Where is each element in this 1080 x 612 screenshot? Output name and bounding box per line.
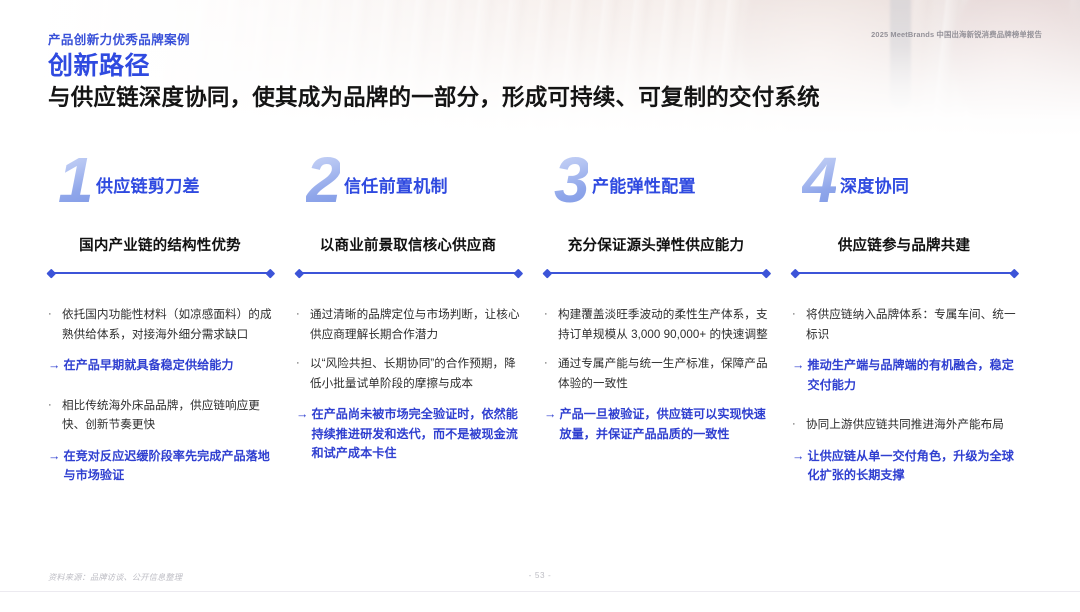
bullet-dot-icon: · <box>48 396 58 416</box>
column-1-title: 供应链剪刀差 <box>96 172 200 197</box>
divider-line <box>300 272 518 274</box>
list-item: · 构建覆盖淡旺季波动的柔性生产体系，支持订单规模从 3,000 90,000+… <box>544 305 774 344</box>
conclusion-text: 推动生产端与品牌端的有机融合，稳定交付能力 <box>808 356 1019 395</box>
column-2-number: 2 <box>306 148 340 212</box>
page-number: - 53 - <box>0 571 1080 580</box>
photo-band-base <box>0 0 1080 138</box>
column-4-number: 4 <box>802 148 836 212</box>
report-title-tag: 2025 MeetBrands 中国出海新锐消费品牌榜单报告 <box>871 29 1042 40</box>
bullet-dot-icon: · <box>48 305 58 325</box>
list-item: · 以“风险共担、长期协同”的合作预期，降低小批量试单阶段的摩擦与成本 <box>296 354 526 393</box>
columns-container: 1 供应链剪刀差 国内产业链的结构性优势 · 依托国内功能性材料（如凉感面料）的… <box>48 160 1040 486</box>
bullet-text: 相比传统海外床品品牌，供应链响应更快、创新节奏更快 <box>62 396 274 435</box>
column-2-divider <box>296 269 522 277</box>
column-1-group-1: · 依托国内功能性材料（如凉感面料）的成熟供给体系，对接海外细分需求缺口 → 在… <box>48 305 278 376</box>
column-4-title: 深度协同 <box>840 172 909 197</box>
list-item: · 依托国内功能性材料（如凉感面料）的成熟供给体系，对接海外细分需求缺口 <box>48 305 278 344</box>
list-item: · 通过清晰的品牌定位与市场判断，让核心供应商理解长期合作潜力 <box>296 305 526 344</box>
diamond-cap-right-icon <box>266 268 275 277</box>
header-photo-band <box>0 0 1080 138</box>
bullet-dot-icon: · <box>296 354 306 374</box>
bullet-text: 构建覆盖淡旺季波动的柔性生产体系，支持订单规模从 3,000 90,000+ 的… <box>558 305 770 344</box>
column-4: 4 深度协同 供应链参与品牌共建 · 将供应链纳入品牌体系：专属车间、统一标识 … <box>792 160 1040 486</box>
column-3: 3 产能弹性配置 充分保证源头弹性供应能力 · 构建覆盖淡旺季波动的柔性生产体系… <box>544 160 792 486</box>
column-1: 1 供应链剪刀差 国内产业链的结构性优势 · 依托国内功能性材料（如凉感面料）的… <box>48 160 296 486</box>
bullet-text: 通过清晰的品牌定位与市场判断，让核心供应商理解长期合作潜力 <box>310 305 522 344</box>
page-title: 创新路径 <box>48 52 150 82</box>
divider-line <box>52 272 270 274</box>
column-3-subtitle: 充分保证源头弹性供应能力 <box>544 234 774 255</box>
column-2-subtitle: 以商业前景取信核心供应商 <box>296 234 526 255</box>
diamond-cap-right-icon <box>1010 268 1019 277</box>
column-3-group-1: · 构建覆盖淡旺季波动的柔性生产体系，支持订单规模从 3,000 90,000+… <box>544 305 774 444</box>
column-3-head: 3 产能弹性配置 <box>544 160 774 222</box>
arrow-right-icon: → <box>296 405 309 425</box>
conclusion-line: → 在产品尚未被市场完全验证时，依然能持续推进研发和迭代，而不是被现金流和试产成… <box>296 405 526 464</box>
diamond-cap-right-icon <box>514 268 523 277</box>
column-1-body: · 依托国内功能性材料（如凉感面料）的成熟供给体系，对接海外细分需求缺口 → 在… <box>48 305 278 486</box>
column-4-group-2: · 协同上游供应链共同推进海外产能布局 → 让供应链从单一交付角色，升级为全球化… <box>792 415 1022 486</box>
column-3-title: 产能弹性配置 <box>592 172 696 197</box>
bullet-text: 依托国内功能性材料（如凉感面料）的成熟供给体系，对接海外细分需求缺口 <box>62 305 274 344</box>
page-subtitle: 与供应链深度协同，使其成为品牌的一部分，形成可持续、可复制的交付系统 <box>48 84 820 111</box>
bullet-text: 以“风险共担、长期协同”的合作预期，降低小批量试单阶段的摩擦与成本 <box>310 354 522 393</box>
column-2: 2 信任前置机制 以商业前景取信核心供应商 · 通过清晰的品牌定位与市场判断，让… <box>296 160 544 486</box>
bullet-text: 将供应链纳入品牌体系：专属车间、统一标识 <box>806 305 1018 344</box>
arrow-right-icon: → <box>792 356 805 376</box>
arrow-right-icon: → <box>48 447 61 467</box>
column-1-subtitle: 国内产业链的结构性优势 <box>48 234 278 255</box>
photo-band-shape-3 <box>890 0 911 108</box>
slide: 产品创新力优秀品牌案例 2025 MeetBrands 中国出海新锐消费品牌榜单… <box>0 0 1080 612</box>
conclusion-text: 让供应链从单一交付角色，升级为全球化扩张的长期支撑 <box>808 447 1019 486</box>
bullet-dot-icon: · <box>544 354 554 374</box>
conclusion-text: 在产品尚未被市场完全验证时，依然能持续推进研发和迭代，而不是被现金流和试产成本卡… <box>312 405 523 464</box>
slide-kicker: 产品创新力优秀品牌案例 <box>48 29 190 48</box>
bullet-dot-icon: · <box>792 415 802 435</box>
arrow-right-icon: → <box>48 356 61 376</box>
conclusion-line: → 让供应链从单一交付角色，升级为全球化扩张的长期支撑 <box>792 447 1022 486</box>
column-4-divider <box>792 269 1018 277</box>
bullet-text: 协同上游供应链共同推进海外产能布局 <box>806 415 1018 435</box>
column-2-head: 2 信任前置机制 <box>296 160 526 222</box>
photo-band-bottom-fade <box>0 0 1080 138</box>
list-item: · 通过专属产能与统一生产标准，保障产品体验的一致性 <box>544 354 774 393</box>
list-item: · 相比传统海外床品品牌，供应链响应更快、创新节奏更快 <box>48 396 278 435</box>
conclusion-line: → 在产品早期就具备稳定供给能力 <box>48 356 278 376</box>
footer-divider <box>0 591 1080 592</box>
conclusion-line: → 推动生产端与品牌端的有机融合，稳定交付能力 <box>792 356 1022 395</box>
column-3-number: 3 <box>554 148 588 212</box>
column-4-body: · 将供应链纳入品牌体系：专属车间、统一标识 → 推动生产端与品牌端的有机融合，… <box>792 305 1022 486</box>
arrow-right-icon: → <box>544 405 557 425</box>
photo-band-shape-2 <box>952 0 1080 138</box>
column-4-head: 4 深度协同 <box>792 160 1022 222</box>
column-4-subtitle: 供应链参与品牌共建 <box>792 234 1022 255</box>
conclusion-text: 在产品早期就具备稳定供给能力 <box>64 356 275 376</box>
conclusion-line: → 在竞对反应迟缓阶段率先完成产品落地与市场验证 <box>48 447 278 486</box>
conclusion-line: → 产品一旦被验证，供应链可以实现快速放量，并保证产品品质的一致性 <box>544 405 774 444</box>
bullet-dot-icon: · <box>296 305 306 325</box>
list-item: · 将供应链纳入品牌体系：专属车间、统一标识 <box>792 305 1022 344</box>
photo-band-left-fade <box>0 0 1080 138</box>
arrow-right-icon: → <box>792 447 805 467</box>
diamond-cap-right-icon <box>762 268 771 277</box>
conclusion-text: 在竞对反应迟缓阶段率先完成产品落地与市场验证 <box>64 447 275 486</box>
column-2-body: · 通过清晰的品牌定位与市场判断，让核心供应商理解长期合作潜力 · 以“风险共担… <box>296 305 526 464</box>
column-1-number: 1 <box>58 148 92 212</box>
conclusion-text: 产品一旦被验证，供应链可以实现快速放量，并保证产品品质的一致性 <box>560 405 771 444</box>
column-2-group-1: · 通过清晰的品牌定位与市场判断，让核心供应商理解长期合作潜力 · 以“风险共担… <box>296 305 526 464</box>
column-2-title: 信任前置机制 <box>344 172 448 197</box>
bullet-dot-icon: · <box>544 305 554 325</box>
column-1-group-2: · 相比传统海外床品品牌，供应链响应更快、创新节奏更快 → 在竞对反应迟缓阶段率… <box>48 396 278 486</box>
photo-band-shape-1 <box>742 0 938 138</box>
photo-band-stripes <box>0 0 1080 138</box>
divider-line <box>796 272 1014 274</box>
column-3-divider <box>544 269 770 277</box>
column-3-body: · 构建覆盖淡旺季波动的柔性生产体系，支持订单规模从 3,000 90,000+… <box>544 305 774 444</box>
column-4-group-1: · 将供应链纳入品牌体系：专属车间、统一标识 → 推动生产端与品牌端的有机融合，… <box>792 305 1022 395</box>
bullet-dot-icon: · <box>792 305 802 325</box>
column-1-head: 1 供应链剪刀差 <box>48 160 278 222</box>
column-1-divider <box>48 269 274 277</box>
divider-line <box>548 272 766 274</box>
list-item: · 协同上游供应链共同推进海外产能布局 <box>792 415 1022 435</box>
bullet-text: 通过专属产能与统一生产标准，保障产品体验的一致性 <box>558 354 770 393</box>
